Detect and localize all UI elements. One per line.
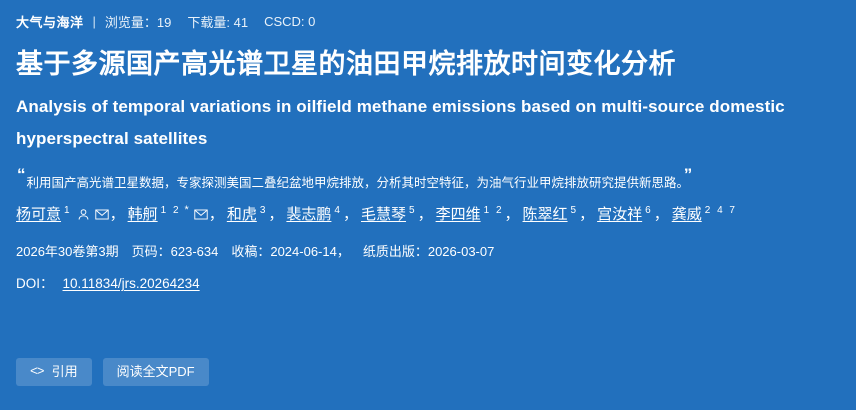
author-name-link[interactable]: 韩舸 — [128, 206, 158, 223]
cscd-count: CSCD: 0 — [264, 14, 315, 29]
read-full-pdf-button-label: 阅读全文PDF — [117, 364, 195, 380]
author-entry: 李四维1 2 — [436, 206, 504, 223]
article-header-panel: 大气与海洋 | 浏览量：19 下载量: 41 CSCD: 0 基于多源国产高光谱… — [0, 0, 856, 410]
author-entry: 杨可意1 — [16, 206, 109, 223]
author-separator: ， — [579, 206, 594, 223]
author-separator: ， — [268, 206, 283, 223]
user-profile-icon[interactable] — [77, 208, 90, 221]
author-name-link[interactable]: 毛慧琴 — [361, 206, 406, 223]
envelope-icon[interactable] — [95, 208, 109, 221]
author-affiliation-superscript: 5 — [571, 205, 579, 216]
author-separator: ， — [654, 206, 669, 223]
abstract-text: 利用国产高光谱卫星数据，专家探测美国二叠纪盆地甲烷排放，分析其时空特征，为油气行… — [27, 176, 683, 190]
author-affiliation-superscript: 5 — [409, 205, 417, 216]
print-published-date: 纸质出版：2026-03-07 — [363, 244, 495, 259]
author-separator: ， — [343, 206, 358, 223]
author-name-link[interactable]: 陈翠红 — [523, 206, 568, 223]
cite-button[interactable]: <> 引用 — [16, 358, 92, 386]
doi-link[interactable]: 10.11834/jrs.20264234 — [63, 276, 200, 291]
journal-category[interactable]: 大气与海洋 — [16, 12, 84, 31]
author-entry: 毛慧琴5 — [361, 206, 417, 223]
envelope-icon[interactable] — [194, 208, 208, 221]
author-separator: ， — [209, 206, 224, 223]
author-affiliation-superscript: 1 — [64, 205, 72, 216]
issue-info: 2026年30卷第3期 — [16, 244, 119, 259]
author-affiliation-superscript: 4 — [334, 205, 342, 216]
author-name-link[interactable]: 杨可意 — [16, 206, 61, 223]
quote-open-mark: “ — [16, 165, 27, 184]
abstract-summary: “利用国产高光谱卫星数据，专家探测美国二叠纪盆地甲烷排放，分析其时空特征，为油气… — [16, 174, 840, 193]
author-name-link[interactable]: 宫汝祥 — [597, 206, 642, 223]
author-separator: ， — [418, 206, 433, 223]
author-list: 杨可意1，韩舸1 2*，和虎3，裴志鹏4，毛慧琴5，李四维1 2，陈翠红5，宫汝… — [16, 202, 840, 226]
author-separator: ， — [505, 206, 520, 223]
action-button-row: <> 引用 阅读全文PDF — [16, 358, 209, 386]
author-affiliation-superscript: 2 4 7 — [705, 205, 737, 216]
author-affiliation-superscript: 6 — [645, 205, 653, 216]
doi-label: DOI： — [16, 276, 54, 291]
page-subtitle-english: Analysis of temporal variations in oilfi… — [16, 91, 806, 156]
received-date: 收稿：2024-06-14， — [231, 244, 350, 259]
author-entry: 陈翠红5 — [523, 206, 579, 223]
author-entry: 龚威2 4 7 — [672, 206, 737, 223]
author-name-link[interactable]: 裴志鹏 — [286, 206, 331, 223]
read-full-pdf-button[interactable]: 阅读全文PDF — [103, 358, 209, 386]
author-name-link[interactable]: 和虎 — [227, 206, 257, 223]
doi-row: DOI：10.11834/jrs.20264234 — [16, 272, 840, 292]
cite-button-label: 引用 — [52, 364, 78, 380]
code-brackets-icon: <> — [30, 364, 44, 380]
quote-close-mark: ” — [683, 165, 694, 184]
author-affiliation-superscript: 1 2 — [161, 205, 181, 216]
author-separator: ， — [110, 206, 125, 223]
author-name-link[interactable]: 龚威 — [672, 206, 702, 223]
author-entry: 裴志鹏4 — [286, 206, 342, 223]
author-entry: 宫汝祥6 — [597, 206, 653, 223]
topbar: 大气与海洋 | 浏览量：19 下载量: 41 CSCD: 0 — [16, 0, 840, 38]
topbar-separator: | — [93, 14, 96, 29]
author-affiliation-superscript: 3 — [260, 205, 268, 216]
author-entry: 韩舸1 2* — [128, 206, 208, 223]
view-count: 浏览量：19 — [105, 12, 171, 31]
corresponding-author-asterisk: * — [185, 204, 189, 216]
author-affiliation-superscript: 1 2 — [484, 205, 504, 216]
author-entry: 和虎3 — [227, 206, 268, 223]
page-title: 基于多源国产高光谱卫星的油田甲烷排放时间变化分析 — [16, 48, 840, 82]
download-count: 下载量: 41 — [187, 12, 248, 31]
publication-meta: 2026年30卷第3期页码：623-634收稿：2024-06-14，纸质出版：… — [16, 242, 840, 263]
page-range: 页码：623-634 — [132, 244, 219, 259]
author-name-link[interactable]: 李四维 — [436, 206, 481, 223]
